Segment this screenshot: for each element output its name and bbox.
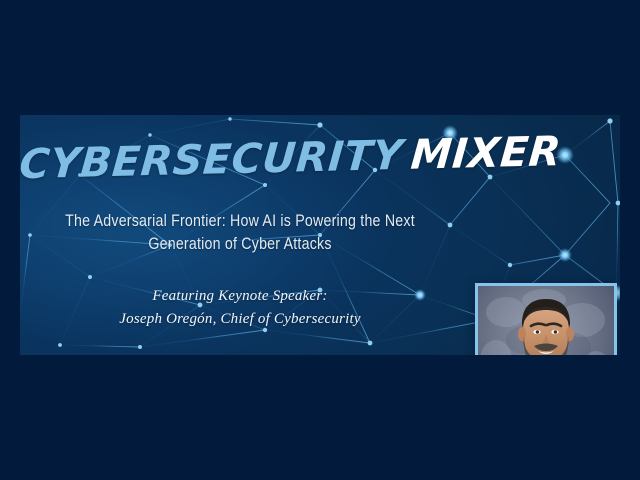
- speaker-headshot-image: [478, 286, 614, 355]
- headline-part-one: CYBERSECURITY: [20, 131, 405, 188]
- banner-text-block: CYBERSECURITYMIXER The Adversarial Front…: [20, 115, 450, 355]
- featuring-speaker-block: Featuring Keynote Speaker: Joseph Oregón…: [30, 285, 450, 330]
- subtitle-line-one: The Adversarial Frontier: How AI is Powe…: [65, 212, 381, 230]
- event-subtitle: The Adversarial Frontier: How AI is Powe…: [59, 210, 420, 257]
- headline-part-two: MIXER: [409, 127, 563, 179]
- event-banner: CYBERSECURITYMIXER The Adversarial Front…: [20, 115, 620, 355]
- featuring-label: Featuring Keynote Speaker:: [152, 288, 327, 304]
- banner-stage: CYBERSECURITYMIXER The Adversarial Front…: [0, 0, 640, 480]
- speaker-name-title: Joseph Oregón, Chief of Cybersecurity: [30, 308, 450, 331]
- event-headline: CYBERSECURITYMIXER: [20, 134, 452, 185]
- speaker-photo-frame: [475, 283, 617, 355]
